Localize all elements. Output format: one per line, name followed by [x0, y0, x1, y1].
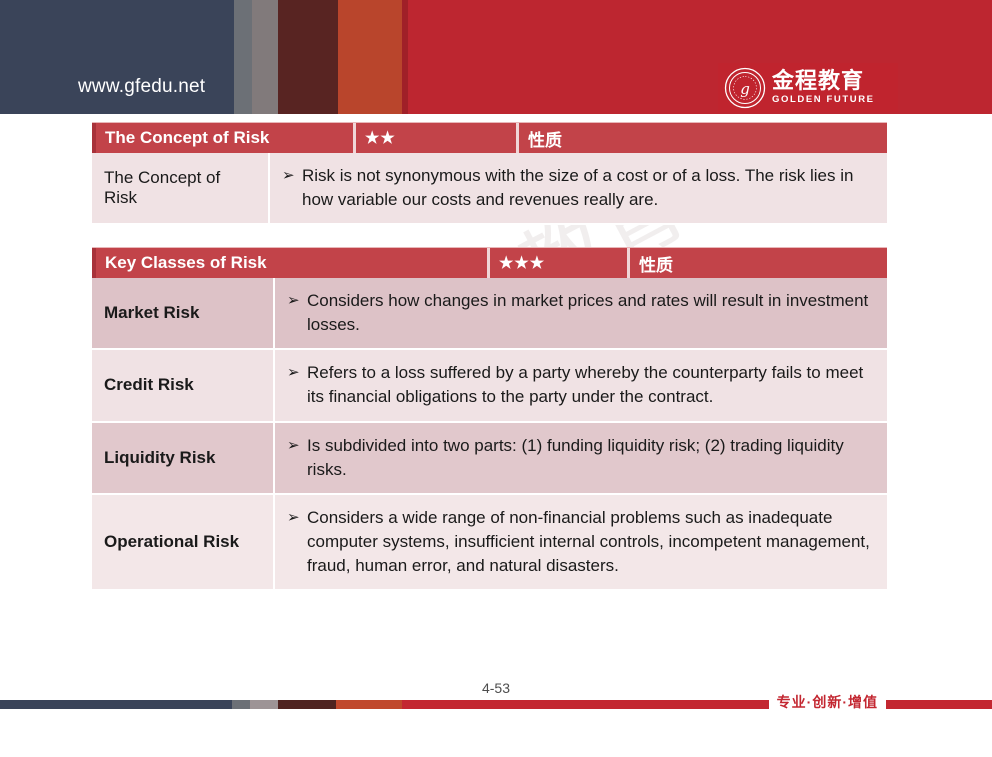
- footer-band-orange: [336, 700, 402, 709]
- footer-band-gray-light: [250, 700, 278, 709]
- header-band-red-edge: [402, 0, 408, 114]
- header-stars-cell: ★★★: [487, 248, 627, 278]
- table-row: Operational Risk ➢ Considers a wide rang…: [92, 495, 887, 591]
- header-title-cell: Key Classes of Risk: [92, 248, 487, 278]
- site-url[interactable]: www.gfedu.net: [78, 76, 205, 98]
- footer-band-navy: [0, 700, 232, 709]
- table-header-row: The Concept of Risk ★★ 性质: [92, 122, 887, 153]
- row-text: Considers how changes in market prices a…: [307, 289, 875, 337]
- footer-band-maroon: [278, 700, 336, 709]
- slide-header: www.gfedu.net g 金程教育 GOLDEN FUTURE: [0, 0, 992, 114]
- row-body: ➢ Considers a wide range of non-financia…: [275, 495, 887, 589]
- footer-band-gray: [232, 700, 250, 709]
- svg-text:g: g: [740, 80, 750, 98]
- bullet-arrow-icon: ➢: [287, 289, 307, 312]
- row-text: Risk is not synonymous with the size of …: [302, 164, 875, 212]
- row-label: Credit Risk: [92, 350, 275, 420]
- table-key-classes-of-risk: Key Classes of Risk ★★★ 性质 Market Risk ➢…: [92, 247, 887, 591]
- table-row: Market Risk ➢ Considers how changes in m…: [92, 278, 887, 350]
- bullet-arrow-icon: ➢: [287, 506, 307, 529]
- row-body: ➢ Refers to a loss suffered by a party w…: [275, 350, 887, 420]
- slide-content: 金程教育 The Concept of Risk ★★ 性质 The Conce…: [0, 114, 992, 674]
- row-label: Liquidity Risk: [92, 423, 275, 493]
- header-title-cell: The Concept of Risk: [92, 123, 353, 153]
- table-row: Credit Risk ➢ Refers to a loss suffered …: [92, 350, 887, 422]
- row-body: ➢ Considers how changes in market prices…: [275, 278, 887, 348]
- bullet-arrow-icon: ➢: [287, 434, 307, 457]
- logo-en-name: GOLDEN FUTURE: [772, 95, 875, 105]
- table-header-row: Key Classes of Risk ★★★ 性质: [92, 247, 887, 278]
- bullet-arrow-icon: ➢: [282, 164, 302, 187]
- header-type-cell: 性质: [516, 123, 887, 153]
- header-stars-cell: ★★: [353, 123, 516, 153]
- brand-logo[interactable]: g 金程教育 GOLDEN FUTURE: [718, 63, 898, 112]
- header-band-orange: [338, 0, 402, 114]
- header-band-red: [402, 0, 992, 114]
- table-row: Liquidity Risk ➢ Is subdivided into two …: [92, 423, 887, 495]
- table-row: The Concept of Risk ➢ Risk is not synony…: [92, 153, 887, 225]
- table-concept-of-risk: The Concept of Risk ★★ 性质 The Concept of…: [92, 122, 887, 225]
- footer-band-red: [402, 700, 992, 709]
- row-body: ➢ Is subdivided into two parts: (1) fund…: [275, 423, 887, 493]
- row-body: ➢ Risk is not synonymous with the size o…: [270, 153, 887, 223]
- logo-cn-name: 金程教育: [772, 70, 875, 92]
- header-type-cell: 性质: [627, 248, 887, 278]
- row-label: Market Risk: [92, 278, 275, 348]
- header-band-maroon: [278, 0, 338, 114]
- row-label: The Concept of Risk: [92, 153, 270, 223]
- header-band-gray-light: [252, 0, 278, 114]
- footer-slogan: 专业·创新·增值: [769, 692, 886, 712]
- bullet-arrow-icon: ➢: [287, 361, 307, 384]
- row-text: Refers to a loss suffered by a party whe…: [307, 361, 875, 409]
- row-text: Considers a wide range of non-financial …: [307, 506, 875, 578]
- logo-text: 金程教育 GOLDEN FUTURE: [772, 70, 875, 105]
- header-band-gray: [234, 0, 252, 114]
- row-label: Operational Risk: [92, 495, 275, 589]
- row-text: Is subdivided into two parts: (1) fundin…: [307, 434, 875, 482]
- logo-seal-icon: g: [724, 67, 766, 109]
